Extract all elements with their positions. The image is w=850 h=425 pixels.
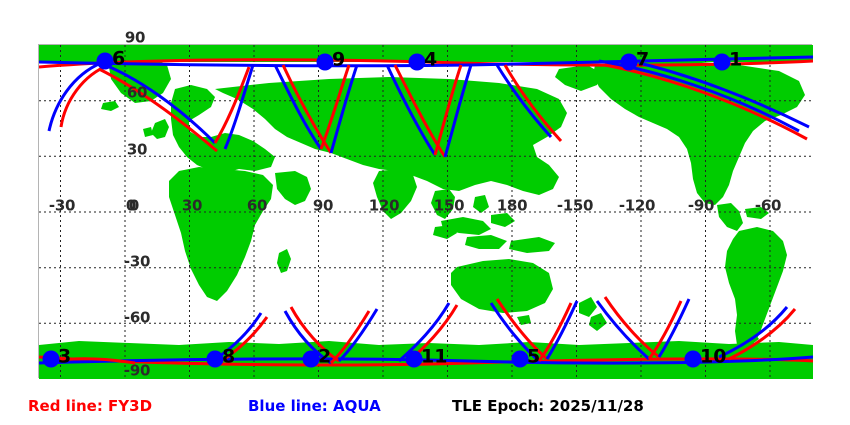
xtick-label-0: 0 — [126, 199, 136, 214]
satellite-marker-label-7: 7 — [636, 51, 649, 70]
satellite-marker-1[interactable] — [714, 54, 731, 71]
satellite-marker-10[interactable] — [685, 351, 702, 368]
satellite-marker-label-5: 5 — [527, 348, 540, 367]
satellite-marker-9[interactable] — [317, 54, 334, 71]
ytick-label-90: 90 — [125, 31, 145, 46]
xtick-label-120: 120 — [369, 199, 399, 214]
ytick-label-minus90: -90 — [124, 364, 150, 379]
xtick-label-90: 90 — [313, 199, 333, 214]
legend-tle-epoch: TLE Epoch: 2025/11/28 — [452, 399, 644, 414]
legend-blue-line-aqua: Blue line: AQUA — [248, 399, 381, 414]
ytick-label-minus30: -30 — [124, 255, 150, 270]
satellite-marker-label-2: 2 — [318, 348, 331, 367]
xtick-label-minus120: -120 — [619, 199, 655, 214]
satellite-marker-label-3: 3 — [58, 348, 71, 367]
ytick-label-minus60: -60 — [124, 311, 150, 326]
satellite-marker-label-1: 1 — [729, 51, 742, 70]
ytick-label-60: 60 — [127, 86, 147, 101]
satellite-marker-7[interactable] — [621, 54, 638, 71]
xtick-label-minus150: -150 — [557, 199, 593, 214]
xtick-label-150: 150 — [434, 199, 464, 214]
satellite-marker-label-11: 11 — [421, 348, 447, 367]
legend: Red line: FY3D Blue line: AQUA TLE Epoch… — [0, 389, 850, 425]
satellite-marker-5[interactable] — [512, 351, 529, 368]
legend-red-line-fy3d: Red line: FY3D — [28, 399, 152, 414]
xtick-label-30: 30 — [182, 199, 202, 214]
satellite-ground-track-map: 6 9 4 7 1 3 8 2 11 5 10 90 60 30 0 -30 -… — [0, 0, 850, 425]
satellite-marker-4[interactable] — [409, 54, 426, 71]
xtick-label-180: 180 — [497, 199, 527, 214]
xtick-label-minus60: -60 — [755, 199, 781, 214]
satellite-marker-6[interactable] — [97, 53, 114, 70]
ytick-label-30: 30 — [127, 143, 147, 158]
satellite-marker-11[interactable] — [406, 351, 423, 368]
satellite-marker-label-4: 4 — [424, 51, 437, 70]
xtick-label-minus30: -30 — [49, 199, 75, 214]
satellite-marker-3[interactable] — [43, 351, 60, 368]
satellite-marker-label-9: 9 — [332, 51, 345, 70]
satellite-marker-label-8: 8 — [222, 348, 235, 367]
satellite-marker-label-6: 6 — [112, 50, 125, 69]
xtick-label-minus90: -90 — [688, 199, 714, 214]
satellite-marker-label-10: 10 — [700, 348, 726, 367]
satellite-marker-2[interactable] — [303, 351, 320, 368]
xtick-label-60: 60 — [247, 199, 267, 214]
satellite-marker-8[interactable] — [207, 351, 224, 368]
